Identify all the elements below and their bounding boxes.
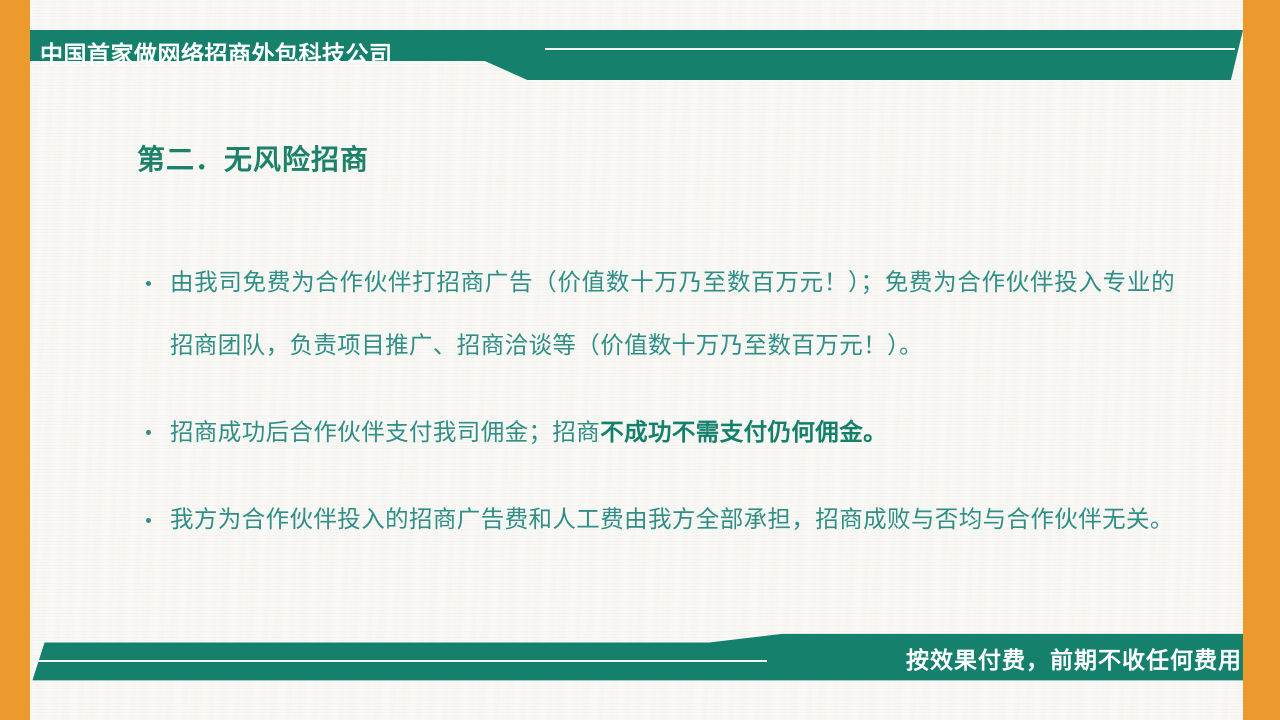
list-item: 由我司免费为合作伙伴打招商广告（价值数十万乃至数百万元！）；免费为合作伙伴投入专… (140, 252, 1175, 378)
page-title: 第二．无风险招商 (137, 138, 369, 178)
list-item-text: 由我司免费为合作伙伴打招商广告（价值数十万乃至数百万元！）；免费为合作伙伴投入专… (170, 252, 1175, 378)
bullet-dot-icon (146, 281, 151, 286)
bullet-dot-icon (146, 518, 151, 523)
plain-text: 由我司免费为合作伙伴打招商广告（价值数十万乃至数百万元！）；免费为合作伙伴投入专… (170, 270, 1175, 359)
bullet-dot-icon (146, 430, 151, 435)
list-item-text: 招商成功后合作伙伴支付我司佣金；招商不成功不需支付仍何佣金。 (170, 401, 1175, 465)
emphasis-text: 不成功不需支付仍何佣金。 (600, 419, 887, 445)
plain-text: 我方为合作伙伴投入的招商广告费和人工费由我方全部承担，招商成败与否均与合作伙伴无… (170, 507, 1174, 533)
plain-text: 招商成功后合作伙伴支付我司佣金；招商 (170, 420, 600, 446)
footer-divider-line (32, 660, 767, 662)
list-item: 招商成功后合作伙伴支付我司佣金；招商不成功不需支付仍何佣金。 (140, 401, 1175, 465)
slide-canvas: 中国首家做网络招商外包科技公司 第二．无风险招商 由我司免费为合作伙伴打招商广告… (0, 0, 1280, 720)
list-item-text: 我方为合作伙伴投入的招商广告费和人工费由我方全部承担，招商成败与否均与合作伙伴无… (170, 489, 1175, 552)
header-company-title: 中国首家做网络招商外包科技公司 (40, 30, 660, 74)
footer-tagline: 按效果付费，前期不收任何费用 (906, 636, 1242, 684)
bullet-list: 由我司免费为合作伙伴打招商广告（价值数十万乃至数百万元！）；免费为合作伙伴投入专… (140, 228, 1175, 562)
list-item: 我方为合作伙伴投入的招商广告费和人工费由我方全部承担，招商成败与否均与合作伙伴无… (140, 489, 1175, 552)
